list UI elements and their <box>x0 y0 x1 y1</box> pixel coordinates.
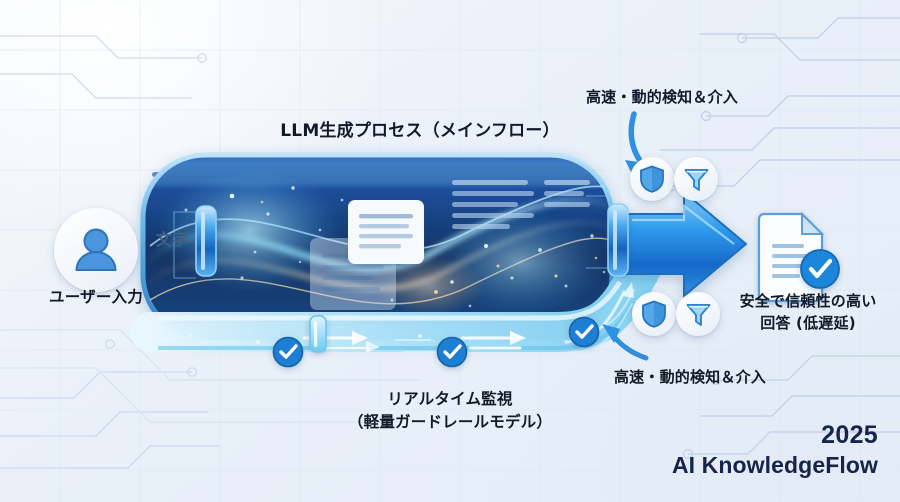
lane-connector-ring <box>310 316 326 352</box>
user-input-badge <box>54 208 138 292</box>
guardrail-shield-badge-bottom <box>632 292 676 336</box>
guardrail-shield-badge-top <box>630 157 674 201</box>
output-label-line2: 回答 (低遅延) <box>716 312 900 333</box>
lane-check-2 <box>438 338 467 367</box>
output-check-circle-icon <box>801 250 839 288</box>
monitor-label-line1: リアルタイム監視 <box>330 387 570 409</box>
brand-name: AI KnowledgeFlow <box>672 452 878 479</box>
annotation-bottom-label: 高速・動的検知＆介入 <box>584 366 796 387</box>
shield-icon <box>639 165 665 193</box>
infographic-canvas: LLM生成プロセス（メインフロー） 文字 ユーザー入力 高速・動的検知＆介入 高… <box>0 0 900 502</box>
user-icon <box>70 224 122 276</box>
filter-funnel-icon <box>685 301 712 328</box>
user-input-label: ユーザー入力 <box>36 285 156 307</box>
input-token-label: 文字 <box>150 226 194 250</box>
pipeline-doc-card-front <box>348 200 424 264</box>
main-flow-label: LLM生成プロセス（メインフロー） <box>240 116 600 141</box>
output-label-line1: 安全で信頼性の高い <box>716 290 900 311</box>
guardrail-filter-badge-bottom <box>676 292 720 336</box>
annotation-top-label: 高速・動的検知＆介入 <box>556 86 768 107</box>
brand-year: 2025 <box>821 421 878 450</box>
input-connector-ring <box>196 206 216 276</box>
shield-icon <box>641 300 667 328</box>
lane-check-3 <box>570 318 599 347</box>
lane-check-1 <box>274 338 303 367</box>
guardrail-filter-badge-top <box>674 157 718 201</box>
filter-funnel-icon <box>683 166 710 193</box>
monitor-label-line2: （軽量ガードレールモデル） <box>330 410 570 432</box>
output-connector-ring <box>608 204 628 276</box>
